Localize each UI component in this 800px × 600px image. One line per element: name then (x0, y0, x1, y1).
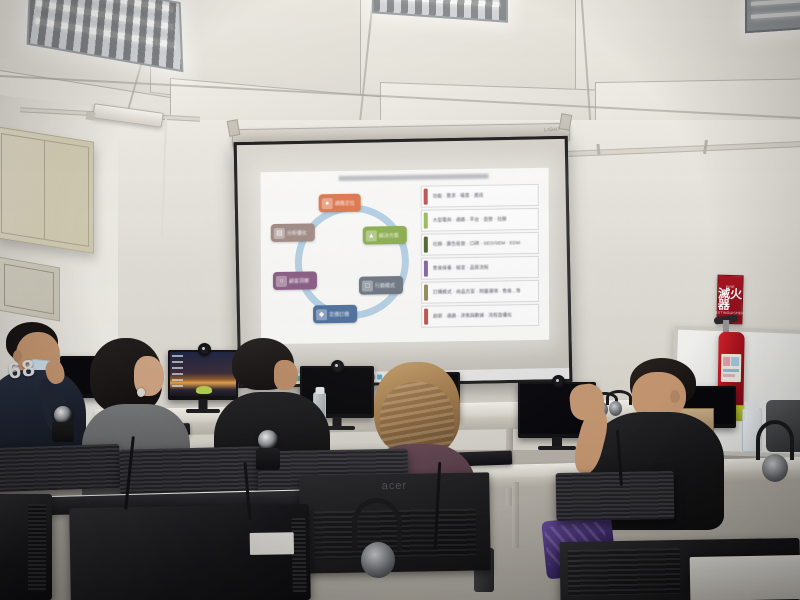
bullet-color-bar (424, 285, 428, 301)
bullet-row: 功能 · 需求 · 場景 · 資訊 (421, 184, 539, 208)
sensor-bracket (85, 111, 95, 120)
bullet-color-bar (424, 309, 428, 325)
bullet-text: 社群 · 廣告投放 · 口碑 · SEO/SEM · EDM (433, 240, 520, 247)
pc-tower-left (0, 494, 52, 600)
monitor-brand-logo: acer (382, 480, 408, 492)
wall-cabinet[interactable] (0, 126, 94, 254)
bottle-cap (745, 401, 760, 410)
ear (670, 390, 680, 403)
headphone-earcup (361, 542, 395, 578)
bullet-row: 大型電商 · 通路 · 平台 · 自營 · 社群 (421, 208, 539, 232)
chair-back-right[interactable] (556, 471, 675, 521)
electrical-panel[interactable] (0, 257, 60, 322)
monitor-stand (199, 399, 208, 409)
cycle-node-1-label: 解決方案 (379, 232, 399, 239)
pc-tower-center (69, 504, 311, 600)
cycle-node-1: ▲ 解決方案 (363, 226, 407, 245)
cycle-diagram: ● 通路定位 ▲ 解決方案 □ 行銷模式 ◆ 定價訂價 (275, 188, 415, 332)
sign-top-text: FIRE (726, 284, 735, 288)
cycle-node-4: ○ 顧客洞察 (273, 271, 317, 290)
webcam-back-4 (552, 375, 565, 388)
bullet-color-bar (424, 213, 428, 229)
bullet-text: 大型電商 · 通路 · 平台 · 自營 · 社群 (433, 216, 507, 223)
cabinet-door-split (44, 141, 45, 239)
cycle-node-3: ◆ 定價訂價 (313, 305, 357, 324)
store-icon: □ (362, 280, 373, 291)
bullet-text: 創新 · 通路 · 決策與數據 · 流程自優化 (433, 312, 512, 319)
pc-vents (28, 504, 46, 592)
tree-icon: ▲ (366, 230, 377, 241)
ceiling-light-far-right (745, 0, 800, 33)
raised-hand (568, 382, 606, 421)
headphones-foreground[interactable] (352, 498, 398, 582)
sign-main-text: 滅火器 (718, 288, 743, 311)
cycle-node-5: ▤ 分析優化 (271, 223, 315, 242)
pc-sticker (250, 532, 294, 555)
slide-bullet-list: 功能 · 需求 · 場景 · 資訊 大型電商 · 通路 · 平台 · 自營 · … (421, 184, 539, 330)
webcam-foreground (258, 430, 278, 450)
bullet-color-bar (424, 261, 428, 277)
head (274, 360, 298, 390)
headphone-earcup (609, 401, 622, 416)
cycle-ring (295, 204, 409, 320)
bullet-text: 訂購模式 · 商品方案 · 附屬選項 · 售後...等 (433, 288, 521, 295)
headphones-right-monitor (606, 390, 628, 420)
bullet-color-bar (424, 237, 428, 253)
bullet-row: 售後保養 · 檢定 · 品質流程 (421, 256, 539, 280)
keyboard-foreground-right (690, 555, 800, 600)
webcam-back-1 (198, 343, 211, 356)
sign-bottom-text: EXTINGUISHER (715, 310, 744, 315)
cycle-node-4-label: 顧客洞察 (289, 277, 309, 284)
desk-leg-front (512, 482, 519, 548)
bullet-row: 訂購模式 · 商品方案 · 附屬選項 · 售後...等 (421, 280, 539, 304)
shirt-number: 68 (6, 354, 37, 385)
panel-inner (4, 264, 54, 315)
slide-title (339, 174, 489, 181)
earring (137, 388, 145, 397)
bullet-color-bar (424, 189, 428, 205)
bullet-text: 功能 · 需求 · 場景 · 資訊 (433, 193, 484, 200)
cycle-node-0: ● 通路定位 (319, 194, 361, 213)
customer-icon: ○ (276, 275, 287, 286)
cycle-node-5-label: 分析優化 (287, 229, 307, 236)
monitor-stand (552, 437, 562, 446)
bullet-row: 社群 · 廣告投放 · 口碑 · SEO/SEM · EDM (421, 232, 539, 256)
bar-chart-icon: ▤ (274, 227, 285, 238)
cycle-node-2: □ 行銷模式 (359, 276, 403, 295)
cycle-node-0-label: 通路定位 (335, 199, 355, 206)
bullet-text: 售後保養 · 檢定 · 品質流程 (433, 265, 489, 272)
cycle-node-3-label: 定價訂價 (329, 310, 349, 317)
webcam-foreground-mount (256, 448, 280, 470)
classroom-photo: LIGHT ● 通路定位 ▲ 解決方案 (0, 0, 800, 600)
cycle-node-2-label: 行銷模式 (375, 282, 395, 289)
monitor-foot (538, 446, 576, 450)
pc-vents (291, 518, 306, 592)
chair-back-center-left[interactable] (119, 446, 262, 496)
tag-icon: ◆ (316, 309, 327, 320)
pc-right-vents (568, 548, 681, 596)
headphone-earcup (762, 454, 788, 482)
projected-slide: ● 通路定位 ▲ 解決方案 □ 行銷模式 ◆ 定價訂價 (261, 168, 550, 345)
webcam-foreground-left-mount (52, 422, 74, 442)
bullet-row: 創新 · 通路 · 決策與數據 · 流程自優化 (421, 304, 539, 328)
headphones-foreground-right[interactable] (756, 420, 792, 490)
location-pin-icon: ● (322, 198, 333, 209)
chair-back-left[interactable] (0, 444, 121, 493)
